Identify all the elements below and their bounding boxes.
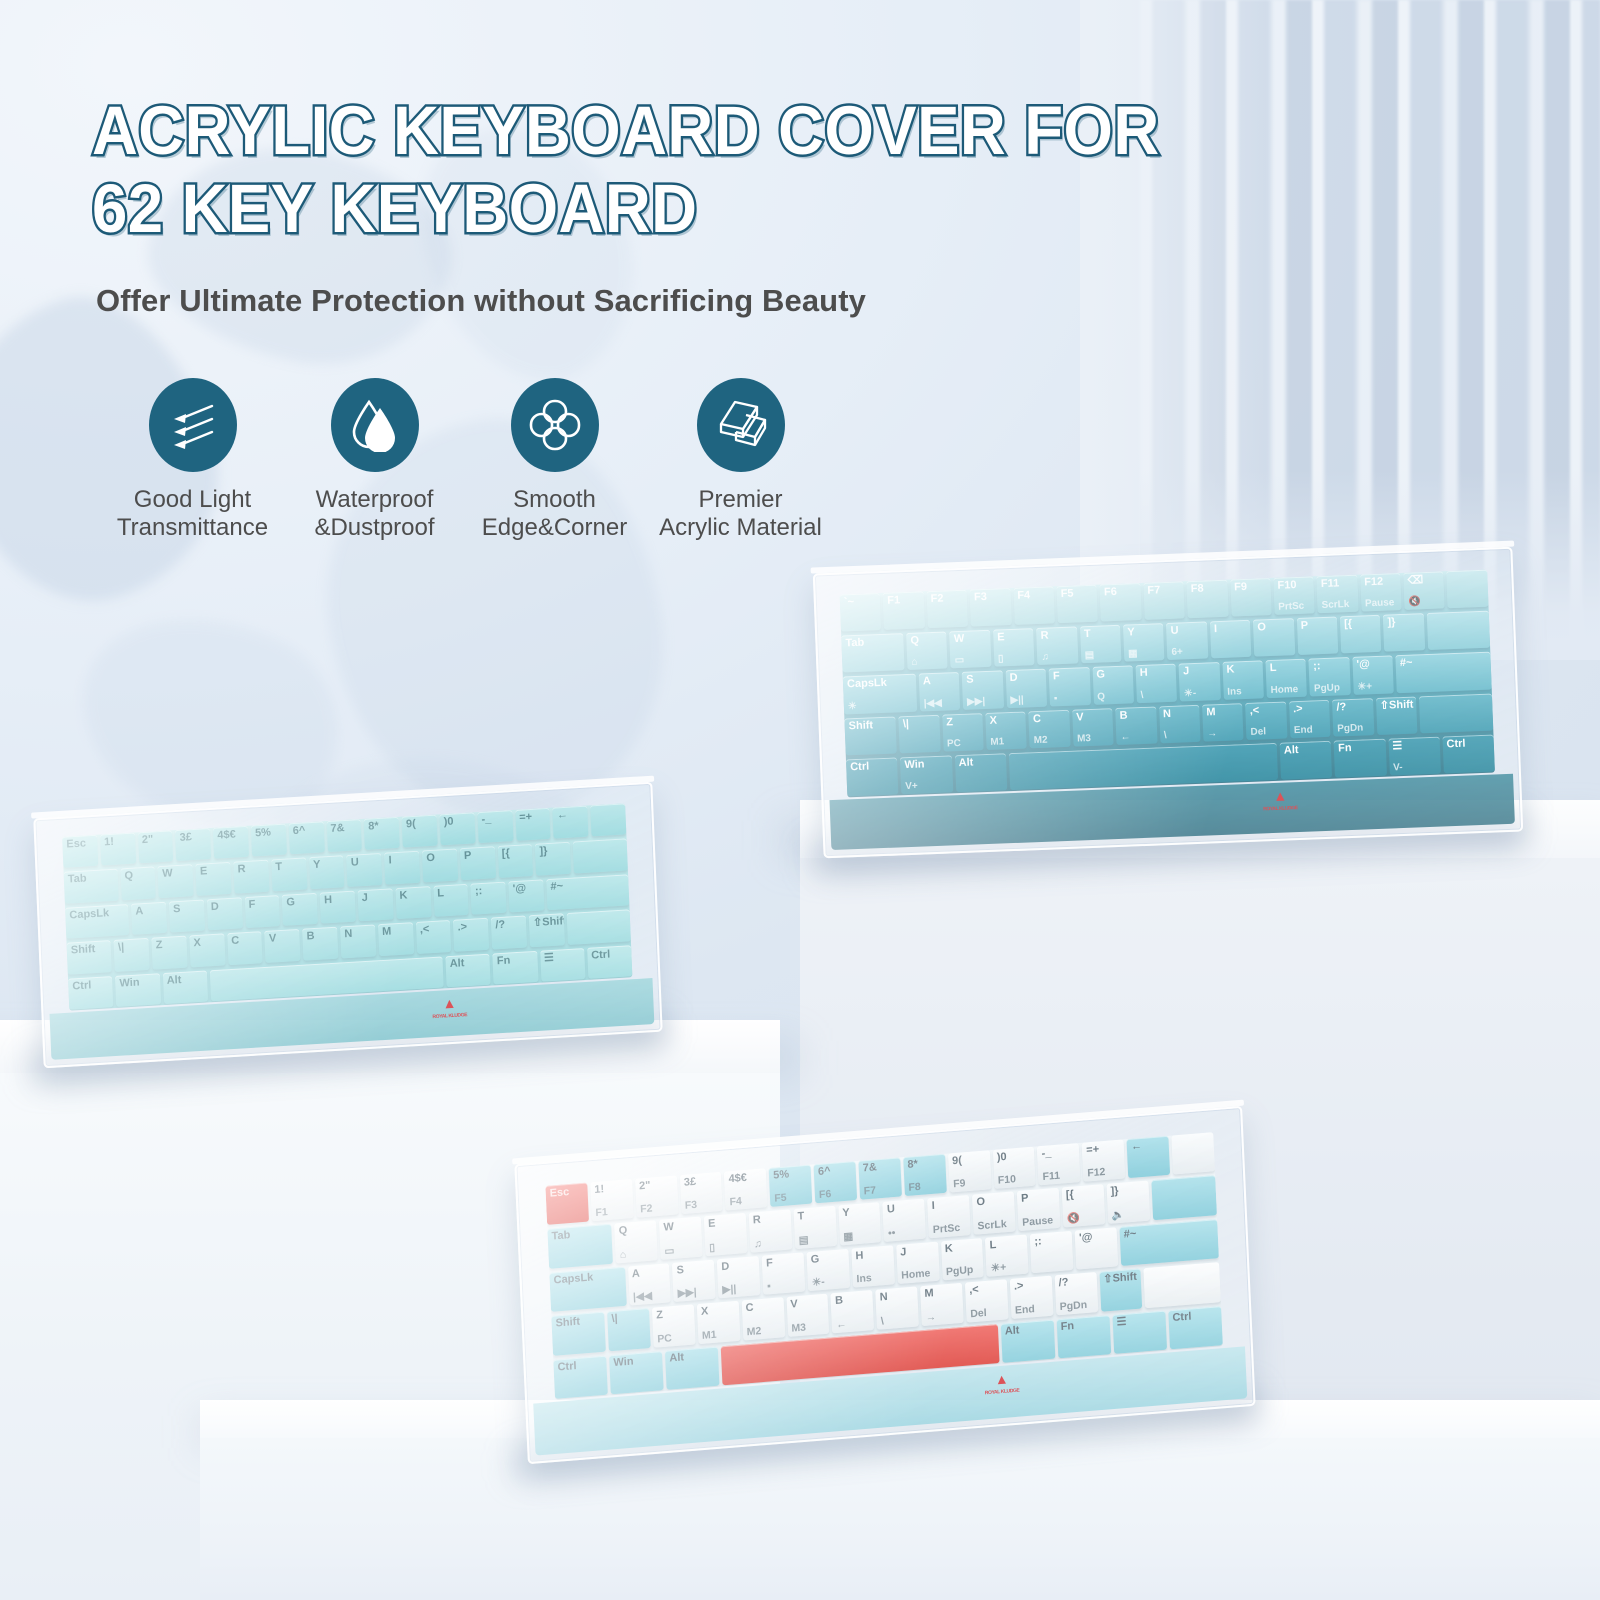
cyan-teal-gradient-keyboard: `~F1F2F3F4F5F6F7F8F9F10PrtScF11ScrLkF12P… — [813, 547, 1523, 859]
acrylic-cover — [514, 1106, 1255, 1464]
product-banner: ACRYLIC KEYBOARD COVER FOR 62 KEY KEYBOA… — [0, 0, 1600, 1600]
feature-good-light-transmittance: Good Light Transmittance — [100, 378, 285, 543]
acrylic-sheets-icon — [697, 378, 785, 472]
white-cyan-red-keyboard: Esc1!F12"F23£F34$€F45%F56^F67&F78*F89(F9… — [514, 1106, 1255, 1464]
mint-cyan-keyboard: Esc1!2"3£4$€5%6^7&8*9()0-_=+←TabQWERTYUI… — [33, 782, 662, 1069]
feature-label: Good Light Transmittance — [100, 486, 285, 543]
page-subtitle: Offer Ultimate Protection without Sacrif… — [96, 283, 866, 319]
acrylic-cover — [813, 547, 1523, 859]
feature-label: Waterproof &Dustproof — [282, 486, 467, 543]
feature-smooth-edge-corner: Smooth Edge&Corner — [462, 378, 647, 543]
feature-label: Premier Acrylic Material — [648, 486, 833, 543]
feature-label: Smooth Edge&Corner — [462, 486, 647, 543]
page-title: ACRYLIC KEYBOARD COVER FOR 62 KEY KEYBOA… — [92, 98, 1233, 253]
acrylic-cover — [33, 782, 662, 1069]
feature-premier-acrylic-material: Premier Acrylic Material — [648, 378, 833, 543]
water-droplet-icon — [331, 378, 419, 472]
feature-waterproof-dustproof: Waterproof &Dustproof — [282, 378, 467, 543]
title-line-1: ACRYLIC KEYBOARD COVER FOR — [92, 98, 1233, 164]
feature-list: Good Light Transmittance Waterproof &Dus… — [100, 378, 880, 558]
light-rays-icon — [149, 378, 237, 472]
four-petal-clover-icon — [511, 378, 599, 472]
title-line-2: 62 KEY KEYBOARD — [92, 176, 1233, 242]
